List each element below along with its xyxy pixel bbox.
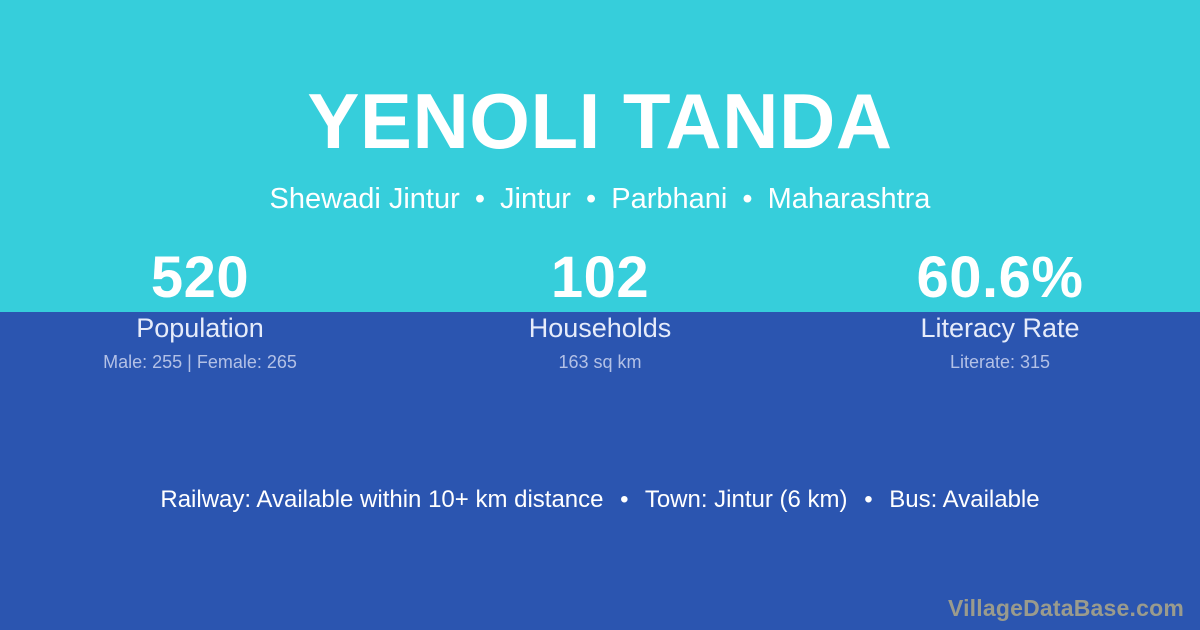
infrastructure-summary: Railway: Available within 10+ km distanc… (0, 485, 1200, 515)
breadcrumb-item-block: Jintur (500, 183, 571, 215)
breadcrumb-item-district: Parbhani (611, 183, 727, 215)
stat-population: 520 Population Male: 255 | Female: 265 (0, 246, 400, 373)
breadcrumb-separator: • (579, 183, 603, 215)
infrastructure-item-railway: Railway: Available within 10+ km distanc… (160, 486, 603, 513)
stat-label: Households (400, 312, 800, 344)
infrastructure-item-town: Town: Jintur (6 km) (645, 486, 848, 513)
site-watermark: VillageDataBase.com (948, 594, 1184, 622)
stat-value: 102 (400, 246, 800, 310)
breadcrumb-separator: • (468, 183, 492, 215)
stat-detail: 163 sq km (400, 351, 800, 373)
breadcrumb-item-state: Maharashtra (768, 183, 931, 215)
stat-detail: Male: 255 | Female: 265 (0, 351, 400, 373)
breadcrumb-separator: • (735, 183, 759, 215)
stat-detail: Literate: 315 (800, 351, 1200, 373)
stat-value: 60.6% (800, 246, 1200, 310)
stat-label: Literacy Rate (800, 312, 1200, 344)
village-info-card: YENOLI TANDA Shewadi Jintur • Jintur • P… (0, 0, 1200, 630)
stats-row: 520 Population Male: 255 | Female: 265 1… (0, 246, 1200, 373)
stat-literacy-rate: 60.6% Literacy Rate Literate: 315 (800, 246, 1200, 373)
stat-label: Population (0, 312, 400, 344)
stat-households: 102 Households 163 sq km (400, 246, 800, 373)
stat-value: 520 (0, 246, 400, 310)
infrastructure-item-bus: Bus: Available (889, 486, 1039, 513)
breadcrumb: Shewadi Jintur • Jintur • Parbhani • Mah… (0, 182, 1200, 217)
infrastructure-separator: • (610, 486, 638, 513)
page-title: YENOLI TANDA (0, 82, 1200, 160)
infrastructure-separator: • (854, 486, 882, 513)
breadcrumb-item-village: Shewadi Jintur (270, 183, 460, 215)
